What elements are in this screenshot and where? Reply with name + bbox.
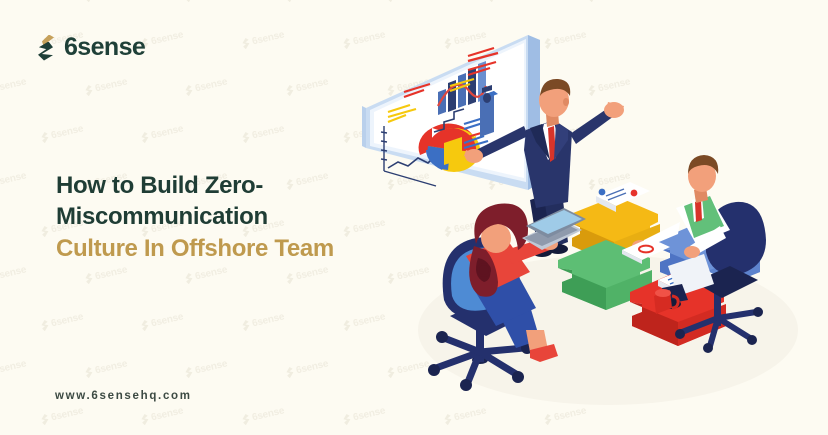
watermark-text: 6sense [295, 264, 329, 282]
watermark-flame-icon [141, 131, 150, 143]
watermark-text: 6sense [150, 405, 184, 423]
watermark-flame-icon [141, 319, 150, 331]
watermark-logo: 6sense [40, 405, 84, 425]
watermark-logo: 6sense [141, 123, 185, 143]
watermark-flame-icon [84, 0, 93, 3]
watermark-logo: 6sense [185, 0, 229, 3]
6sense-flame-icon [38, 35, 57, 61]
watermark-logo: 6sense [185, 264, 229, 284]
watermark-flame-icon [185, 0, 194, 3]
watermark-flame-icon [342, 413, 351, 425]
watermark-text: 6sense [94, 76, 128, 94]
site-url[interactable]: www.6sensehq.com [55, 390, 192, 402]
watermark-flame-icon [285, 0, 294, 3]
watermark-logo: 6sense [241, 123, 285, 143]
watermark-flame-icon [342, 319, 351, 331]
watermark-flame-icon [241, 37, 250, 49]
watermark-logo: 6sense [40, 123, 84, 143]
watermark-text: 6sense [94, 264, 128, 282]
watermark-logo: 6sense [141, 311, 185, 331]
title-line-1: How to Build Zero- [56, 170, 396, 201]
brand-logo-text: 6sense [64, 33, 145, 62]
watermark-logo: 6sense [285, 264, 329, 284]
watermark-text: 6sense [50, 311, 84, 329]
watermark-logo: 6sense [0, 358, 27, 378]
watermark-flame-icon [84, 366, 93, 378]
watermark-text: 6sense [251, 405, 285, 423]
watermark-flame-icon [285, 272, 294, 284]
watermark-text: 6sense [50, 405, 84, 423]
watermark-text: 6sense [0, 264, 27, 282]
watermark-logo: 6sense [185, 76, 229, 96]
watermark-flame-icon [241, 319, 250, 331]
watermark-flame-icon [342, 37, 351, 49]
watermark-text: 6sense [150, 123, 184, 141]
watermark-logo: 6sense [141, 405, 185, 425]
watermark-text: 6sense [295, 358, 329, 376]
watermark-logo: 6sense [0, 170, 27, 190]
watermark-logo: 6sense [40, 311, 84, 331]
watermark-text: 6sense [194, 358, 228, 376]
watermark-flame-icon [241, 413, 250, 425]
watermark-text: 6sense [50, 123, 84, 141]
watermark-flame-icon [285, 84, 294, 96]
watermark-flame-icon [84, 272, 93, 284]
hero-illustration [358, 0, 828, 435]
watermark-text: 6sense [295, 76, 329, 94]
watermark-logo: 6sense [241, 311, 285, 331]
watermark-flame-icon [40, 413, 49, 425]
watermark-logo: 6sense [241, 29, 285, 49]
watermark-flame-icon [40, 319, 49, 331]
watermark-flame-icon [285, 366, 294, 378]
watermark-text: 6sense [0, 170, 27, 188]
watermark-flame-icon [141, 413, 150, 425]
watermark-text: 6sense [194, 264, 228, 282]
watermark-logo: 6sense [0, 0, 27, 3]
watermark-logo: 6sense [84, 0, 128, 3]
watermark-text: 6sense [0, 76, 27, 94]
watermark-text: 6sense [251, 311, 285, 329]
watermark-flame-icon [40, 225, 49, 237]
watermark-logo: 6sense [285, 358, 329, 378]
page-title: How to Build Zero- Miscommunication Cult… [56, 170, 396, 264]
watermark-text: 6sense [251, 29, 285, 47]
blog-banner: 6sense6sense6sense6sense6sense6sense6sen… [0, 0, 828, 435]
watermark-logo: 6sense [141, 29, 185, 49]
watermark-text: 6sense [194, 76, 228, 94]
watermark-logo: 6sense [0, 76, 27, 96]
watermark-flame-icon [185, 84, 194, 96]
brand-logo[interactable]: 6sense [38, 33, 145, 62]
watermark-logo: 6sense [285, 76, 329, 96]
presentation-board [362, 35, 540, 190]
watermark-text: 6sense [0, 358, 27, 376]
watermark-flame-icon [84, 84, 93, 96]
watermark-logo: 6sense [285, 0, 329, 3]
watermark-logo: 6sense [0, 264, 27, 284]
watermark-flame-icon [40, 131, 49, 143]
watermark-logo: 6sense [84, 264, 128, 284]
watermark-text: 6sense [94, 358, 128, 376]
watermark-text: 6sense [150, 311, 184, 329]
watermark-logo: 6sense [185, 358, 229, 378]
title-line-3: Culture In Offshore Team [56, 233, 396, 264]
watermark-flame-icon [241, 131, 250, 143]
watermark-flame-icon [185, 272, 194, 284]
watermark-logo: 6sense [84, 358, 128, 378]
watermark-flame-icon [342, 131, 351, 143]
watermark-text: 6sense [150, 29, 184, 47]
watermark-logo: 6sense [84, 76, 128, 96]
title-line-2: Miscommunication [56, 201, 396, 232]
watermark-flame-icon [185, 366, 194, 378]
watermark-text: 6sense [251, 123, 285, 141]
watermark-logo: 6sense [241, 405, 285, 425]
